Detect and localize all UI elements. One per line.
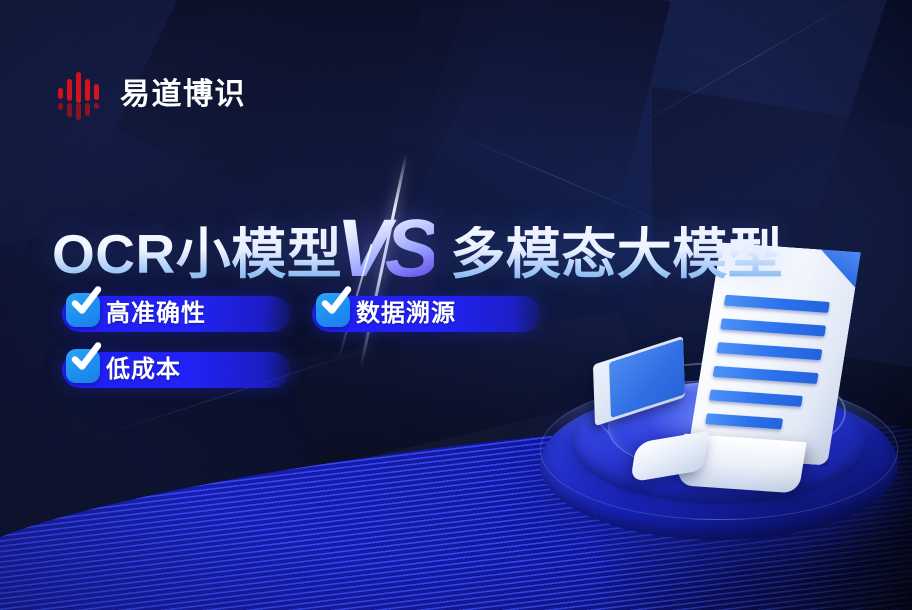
feature-row-1: 高准确性 数据溯源 [62,296,602,332]
promo-banner: REPORT [0,0,912,610]
feature-pill-traceability[interactable]: 数据溯源 [312,296,540,332]
vs-label: VS [336,202,433,296]
headline-right: 多模态大模型 [450,226,783,284]
feature-label: 数据溯源 [356,302,456,326]
check-icon [316,293,350,327]
feature-pill-low-cost[interactable]: 低成本 [62,352,290,388]
feature-pill-accuracy[interactable]: 高准确性 [62,296,290,332]
headline-left: OCR小模型 [52,226,342,284]
vs-badge: VS [336,200,444,310]
feature-list: 高准确性 数据溯源 低成本 [62,296,602,408]
feature-label: 低成本 [106,358,181,382]
feature-row-2: 低成本 [62,352,602,388]
headline: OCR小模型 VS 多模态大模型 [52,200,783,310]
feature-label: 高准确性 [106,302,206,326]
brand-name: 易道博识 [120,80,246,110]
check-icon [66,349,100,383]
check-icon [66,293,100,327]
waveform-logo-icon [56,70,104,120]
brand-logo[interactable]: 易道博识 [56,70,246,120]
